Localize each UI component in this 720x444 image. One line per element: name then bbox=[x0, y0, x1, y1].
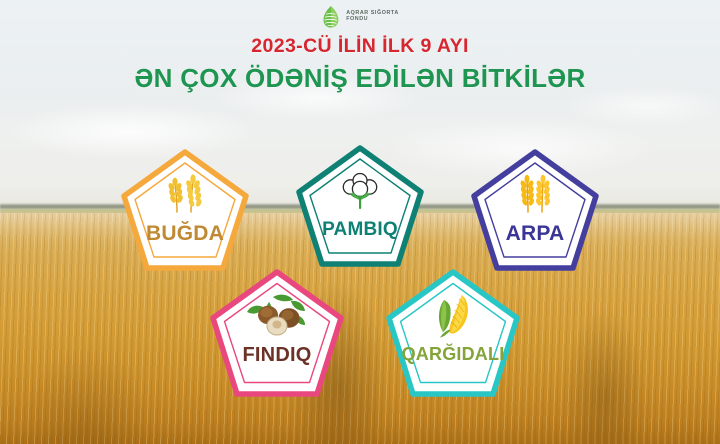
hazelnut-icon bbox=[245, 293, 309, 339]
barley-icon bbox=[514, 174, 556, 214]
crop-badge-findiq[interactable]: FINDIQ bbox=[207, 266, 347, 400]
crop-badge-bugda[interactable]: BUĞDA bbox=[118, 146, 252, 274]
crop-label-findiq: FINDIQ bbox=[207, 344, 347, 367]
crop-badge-qargidali[interactable]: QARĞIDALI bbox=[383, 266, 523, 400]
cotton-boll-icon bbox=[338, 172, 382, 212]
crop-label-pambiq: PAMBIQ bbox=[293, 219, 427, 241]
crop-badge-pambiq[interactable]: PAMBIQ bbox=[293, 142, 427, 270]
crop-badge-group: BUĞDA PAMBIQ bbox=[0, 0, 720, 444]
corn-icon bbox=[431, 292, 475, 340]
crop-badge-arpa[interactable]: ARPA bbox=[468, 146, 602, 274]
crop-label-arpa: ARPA bbox=[468, 222, 602, 246]
wheat-icon bbox=[162, 174, 208, 214]
infographic-canvas: AQRAR SIĞORTA FONDU 2023-CÜ İLİN İLK 9 A… bbox=[0, 0, 720, 444]
crop-label-qargidali: QARĞIDALI bbox=[383, 344, 523, 365]
crop-label-bugda: BUĞDA bbox=[118, 222, 252, 246]
